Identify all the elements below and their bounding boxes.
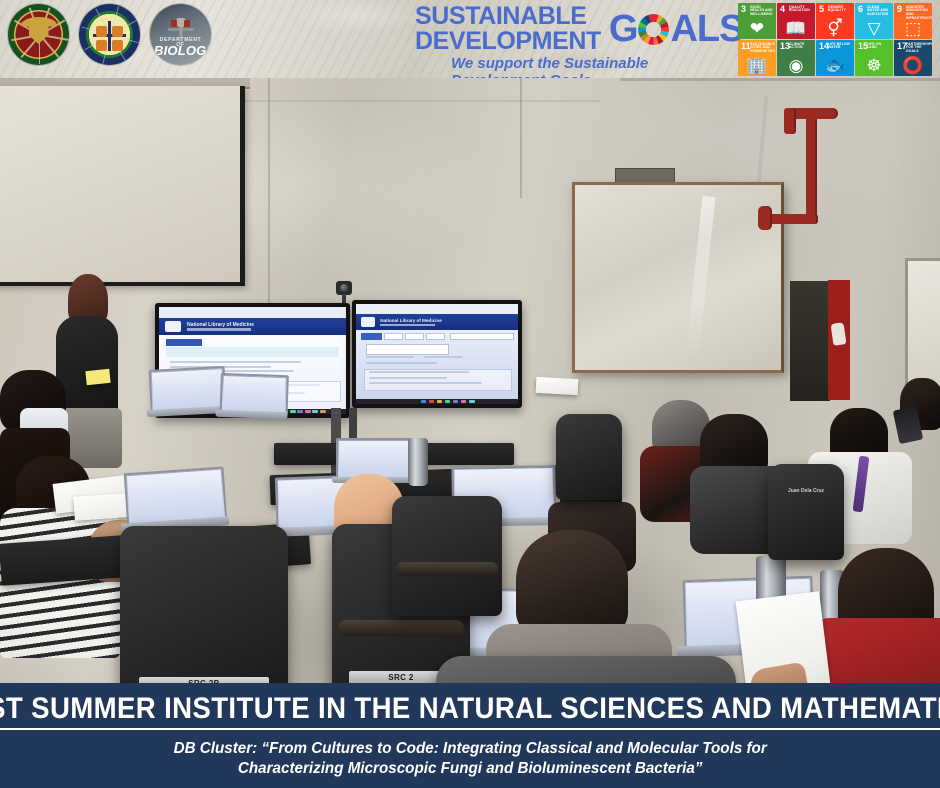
chair-back-center — [556, 414, 622, 500]
sdg-word-line1: SUSTAINABLE — [415, 4, 601, 29]
os-taskbar — [356, 399, 518, 404]
event-subtitle: DB Cluster: “From Cultures to Code: Inte… — [173, 739, 766, 779]
event-subtitle-line1: DB Cluster: “From Cultures to Code: Inte… — [173, 739, 766, 759]
sdg-tile-icon: ◉ — [777, 57, 815, 74]
monitor-right-screen: National Library of Medicine — [356, 304, 518, 404]
sdg-tile-title: PARTNERSHIPS FOR THE GOALS — [906, 43, 930, 55]
whiteboard-center — [572, 182, 784, 373]
department-of-biology-logo: DEPARTMENT OF BIOLOGY — [150, 4, 211, 65]
wall-seam — [520, 78, 522, 198]
sdg-tile-icon: ☸ — [855, 57, 893, 74]
nlm-title-text: National Library of Medicine — [187, 322, 254, 328]
sdg-goals-post: ALS — [670, 12, 743, 46]
sdg-tagline: We support the Sustainable Development G… — [451, 55, 735, 78]
sdg-color-wheel-icon — [638, 14, 669, 45]
tumbler-bottle-left — [408, 438, 428, 486]
ncbi-logo-icon — [361, 317, 376, 327]
ceiling-line — [620, 78, 940, 81]
laptop-back-left — [149, 366, 224, 426]
sticky-note — [85, 369, 110, 385]
sdg-tile-3: 3 GOOD HEALTH AND WELL-BEING ❤ — [738, 3, 776, 39]
sdg-tile-icon: ⚥ — [816, 20, 854, 37]
fire-valve — [758, 206, 772, 230]
sdg-tile-5: 5 GENDER EQUALITY ⚥ — [816, 3, 854, 39]
paper-desk-center — [536, 377, 579, 395]
sdg-tile-title: SUSTAINABLE CITIES AND COMMUNITIES — [750, 43, 774, 55]
sdg-tile-number: 3 — [741, 5, 746, 14]
sdg-tile-icon: ▽ — [855, 20, 893, 37]
sdg-word-line2: DEVELOPMENT — [415, 29, 601, 54]
sdg-tile-number: 9 — [897, 5, 902, 14]
sdg-tile-title: CLEAN WATER AND SANITATION — [867, 6, 891, 18]
sdg-tile-title: LIFE ON LAND — [867, 43, 891, 51]
event-photo: National Library of Medicine — [0, 78, 940, 683]
chair-embroidered: Juan Dela Cruz — [768, 464, 844, 560]
nlm-title-text: National Library of Medicine — [380, 318, 442, 323]
nlm-header-bar: National Library of Medicine — [356, 314, 518, 330]
up-seal-logo — [8, 4, 69, 65]
ncbi-logo-icon — [165, 321, 182, 332]
event-subtitle-line2: Characterizing Microscopic Fungi and Bio… — [173, 759, 766, 779]
chair-armrest — [338, 620, 464, 636]
sdg-tile-icon: ❤ — [738, 20, 776, 37]
sdg-tile-title: LIFE BELOW WATER — [828, 43, 852, 51]
sdg-tile-6: 6 CLEAN WATER AND SANITATION ▽ — [855, 3, 893, 39]
event-title: 31ST SUMMER INSTITUTE IN THE NATURAL SCI… — [0, 693, 940, 730]
sdg-tile-icon: 🏢 — [738, 57, 776, 74]
nlm-header-bar: National Library of Medicine — [159, 318, 346, 335]
sdg-goals-pre: G — [609, 12, 638, 46]
sdg-tile-icon: 🐟 — [816, 57, 854, 74]
sdg-goal-tiles: 3 GOOD HEALTH AND WELL-BEING ❤ 4 QUALITY… — [738, 3, 936, 76]
wall-monitor-right: National Library of Medicine — [352, 300, 522, 408]
sdg-tile-9: 9 INDUSTRY, INNOVATION AND INFRASTRUCTUR… — [894, 3, 932, 39]
chair-armrest — [396, 562, 498, 576]
projector-screen — [0, 86, 245, 286]
sdg-tile-title: QUALITY EDUCATION — [789, 6, 813, 14]
sdg-tile-icon: ⬚ — [894, 20, 932, 37]
chair-embroidery-text: Juan Dela Cruz — [776, 488, 836, 495]
sdg-tile-15: 15 LIFE ON LAND ☸ — [855, 40, 893, 76]
fire-pipe-horizontal — [766, 214, 818, 224]
poster-card: DEPARTMENT OF BIOLOGY SUSTAINABLE DEVELO… — [0, 0, 940, 788]
biology-logo-line2: BIOLOGY — [154, 44, 207, 57]
fire-pipe-vertical — [806, 116, 817, 220]
chair-src2b: SRC 2B — [120, 526, 288, 683]
nlm-site-title: National Library of Medicine — [380, 318, 455, 322]
sdg-tile-4: 4 QUALITY EDUCATION 📖 — [777, 3, 815, 39]
footer-banner: 31ST SUMMER INSTITUTE IN THE NATURAL SCI… — [0, 683, 940, 788]
sdg-tile-11: 11 SUSTAINABLE CITIES AND COMMUNITIES 🏢 — [738, 40, 776, 76]
sdg-tile-number: 5 — [819, 5, 824, 14]
chair-middle — [392, 496, 502, 616]
sdg-tile-number: 6 — [858, 5, 863, 14]
fire-pipe-elbow — [784, 108, 796, 134]
sdg-tile-17: 17 PARTNERSHIPS FOR THE GOALS ⭕ — [894, 40, 932, 76]
conference-camera-icon — [336, 281, 352, 295]
sdg-tile-number: 4 — [780, 5, 785, 14]
fire-hose-cabinet — [790, 281, 830, 401]
sdg-tile-13: 13 CLIMATE ACTION ◉ — [777, 40, 815, 76]
person-foreground-hair — [516, 530, 628, 638]
sdg-tile-title: CLIMATE ACTION — [789, 43, 813, 51]
wall-seam — [268, 78, 270, 318]
fire-pipe-top — [790, 108, 838, 119]
sdg-tile-icon: 📖 — [777, 20, 815, 37]
sdg-tile-icon: ⭕ — [894, 57, 932, 74]
sdg-tile-title: GENDER EQUALITY — [828, 6, 852, 14]
sdg-wordmark: SUSTAINABLE DEVELOPMENT G ALS We support… — [415, 4, 735, 78]
chair-foreground — [436, 656, 736, 683]
sdg-tile-title: GOOD HEALTH AND WELL-BEING — [750, 6, 774, 18]
laptop-back-left-2 — [219, 373, 285, 427]
nlm-site-title: National Library of Medicine — [187, 322, 273, 326]
header-banner: DEPARTMENT OF BIOLOGY SUSTAINABLE DEVELO… — [0, 0, 940, 78]
sdg-tile-14: 14 LIFE BELOW WATER 🐟 — [816, 40, 854, 76]
institution-logos: DEPARTMENT OF BIOLOGY — [8, 4, 211, 65]
college-of-science-seal-logo — [79, 4, 140, 65]
